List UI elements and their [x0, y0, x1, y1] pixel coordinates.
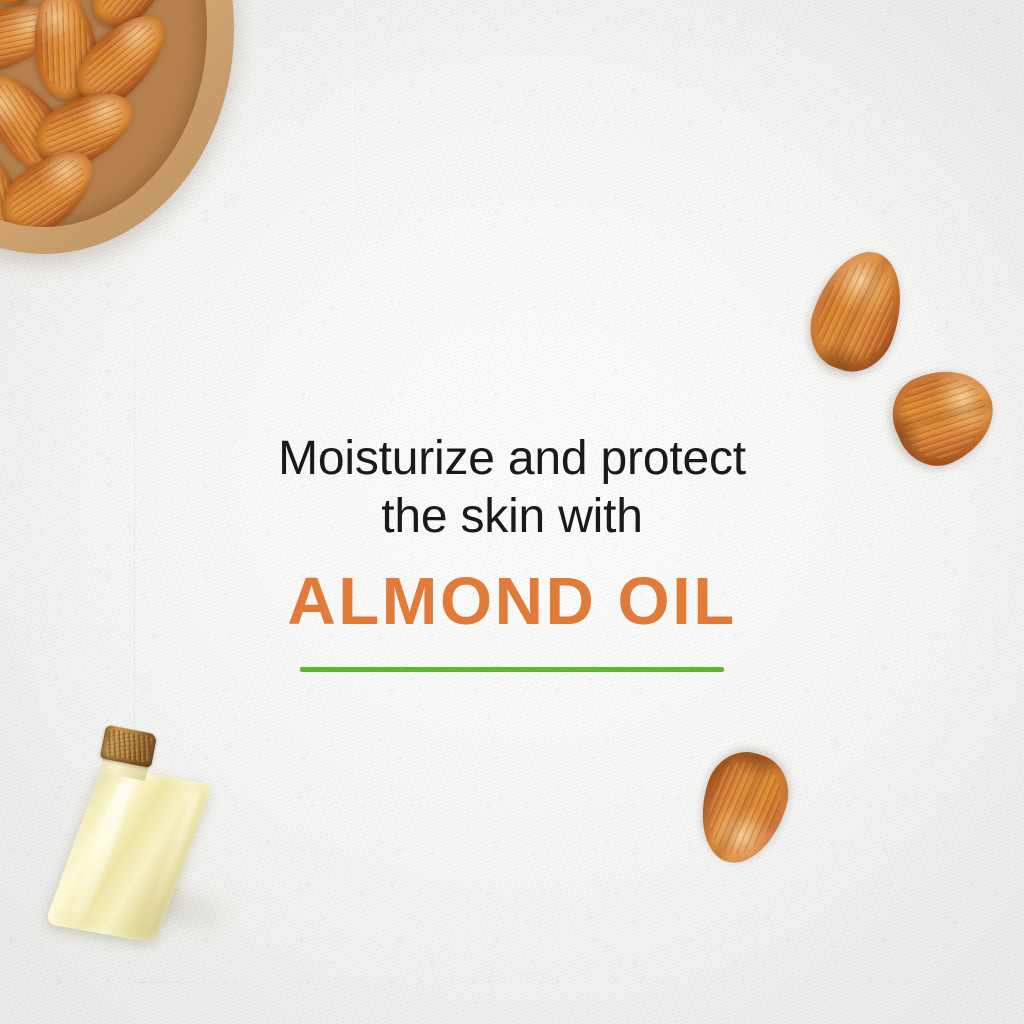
bowl-interior [0, 0, 207, 227]
headline-line-2: the skin with [0, 488, 1024, 546]
poster-canvas: Moisturize and protect the skin with ALM… [0, 0, 1024, 1024]
headline-line-1: Moisturize and protect [0, 430, 1024, 488]
background-seam-vertical-upper [352, 0, 353, 250]
background-seam-horizontal [134, 982, 254, 983]
brand-title: ALMOND OIL [0, 566, 1024, 638]
headline-block: Moisturize and protect the skin with ALM… [0, 430, 1024, 672]
almond-bowl [0, 0, 234, 254]
green-underline-rule [300, 667, 724, 672]
